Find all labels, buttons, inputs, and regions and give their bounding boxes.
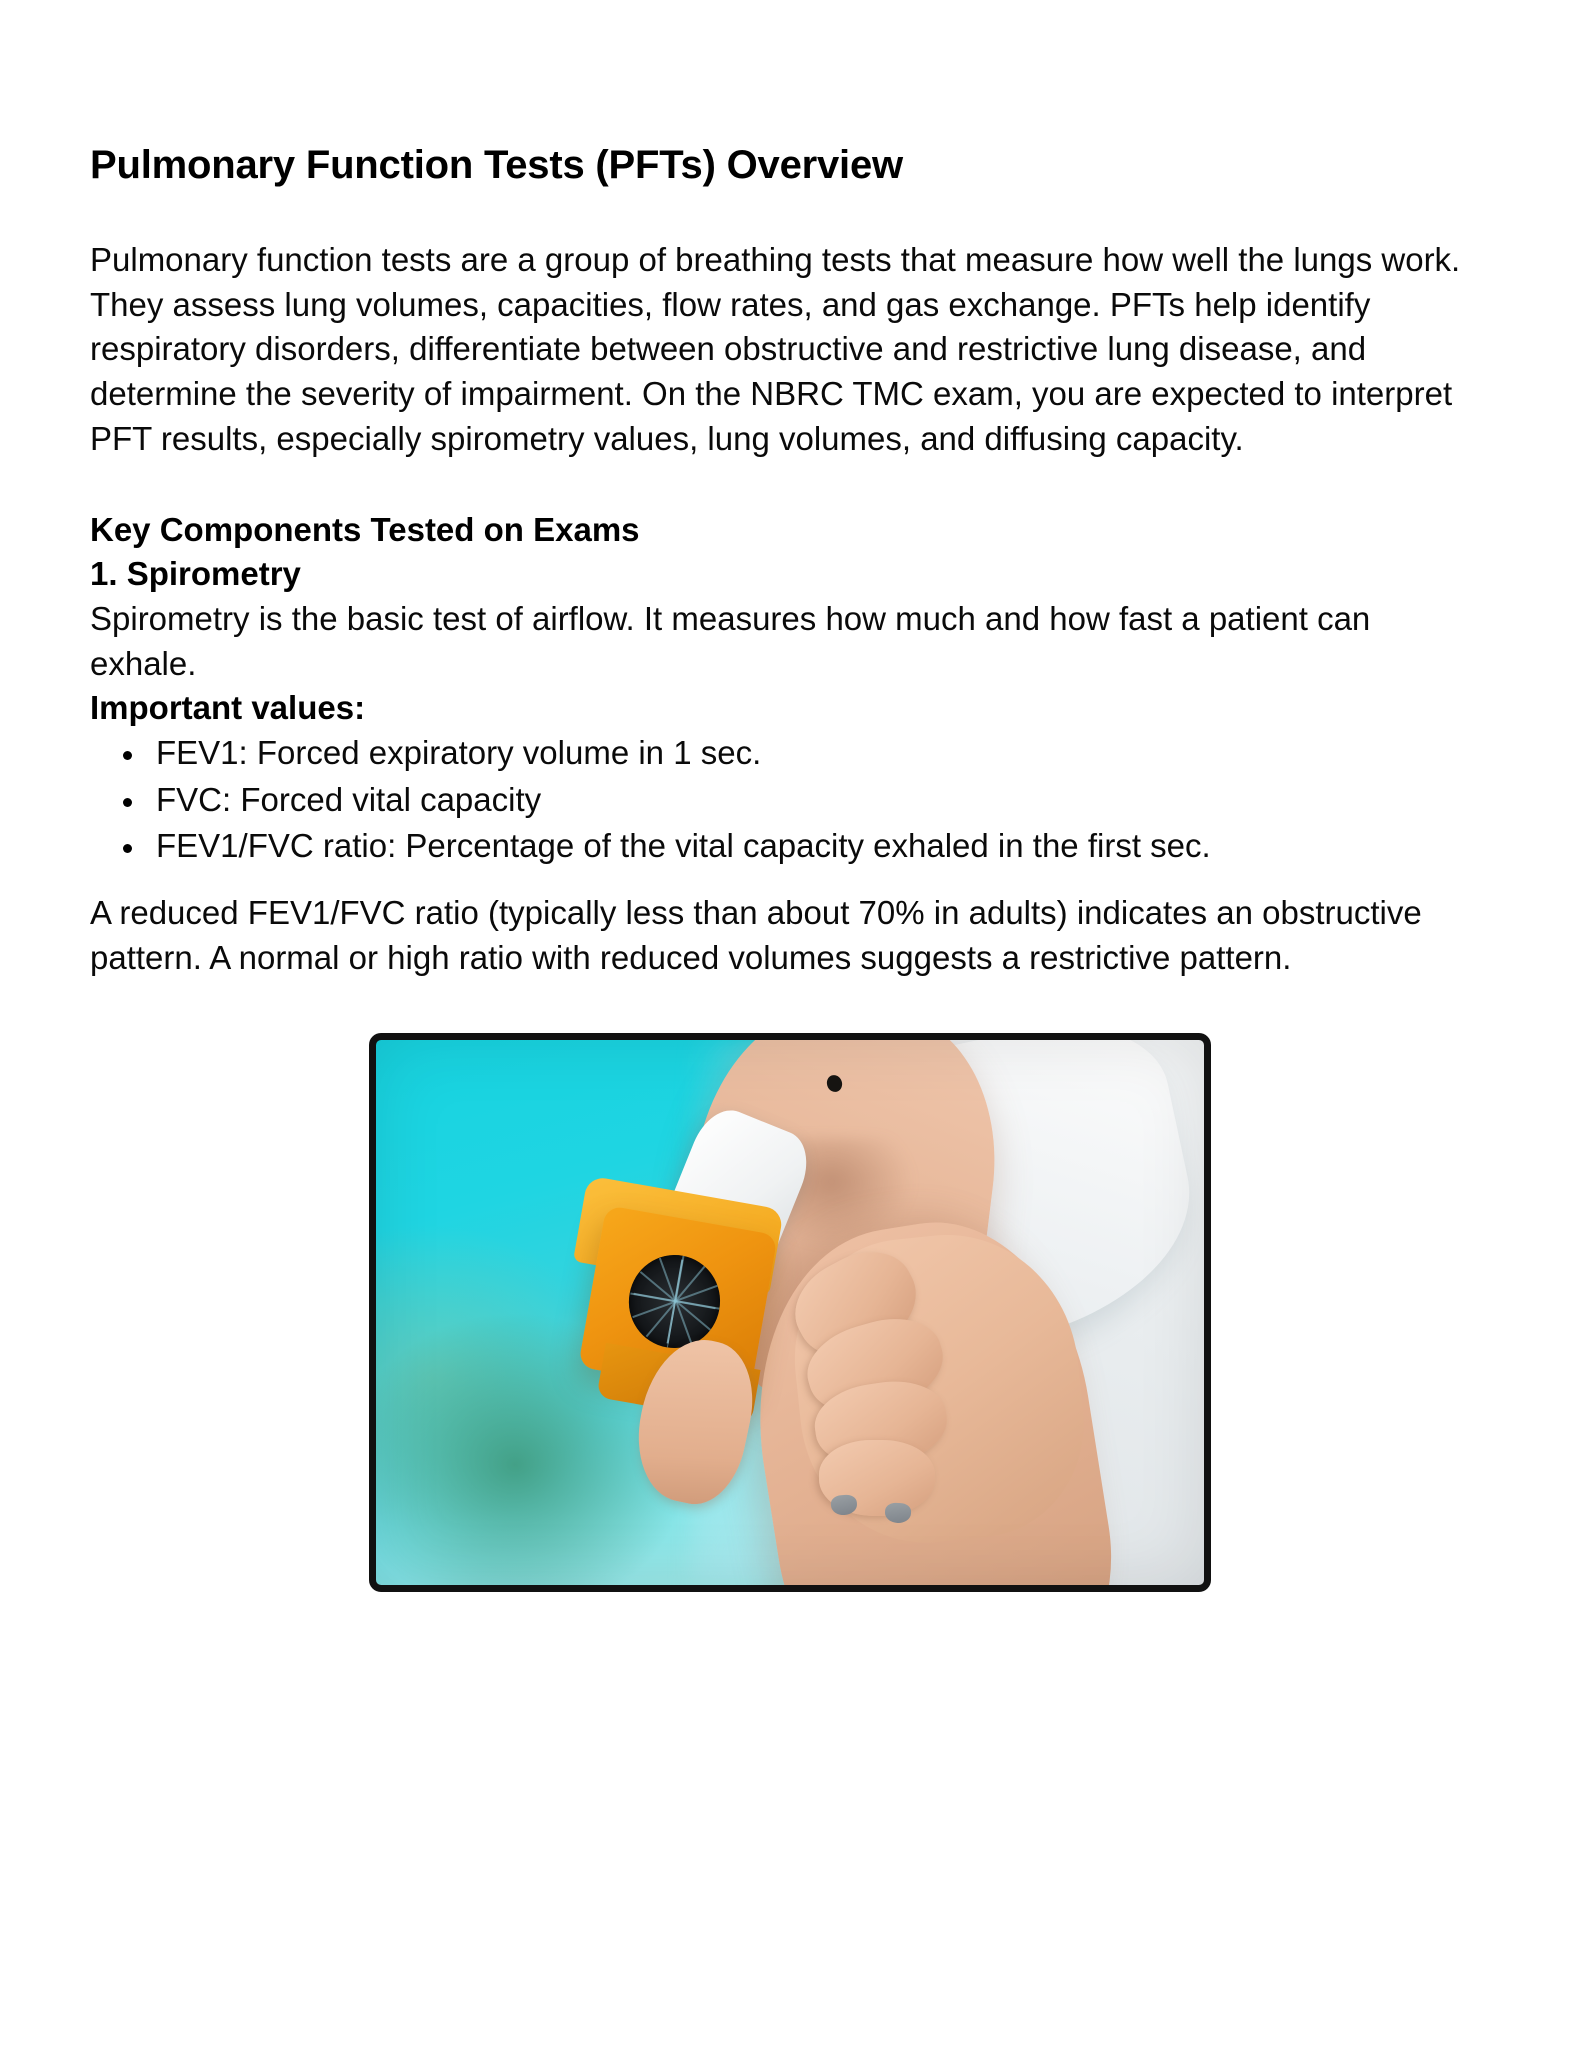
list-item-label: FVC: Forced vital capacity <box>156 781 541 818</box>
interpretation-paragraph: A reduced FEV1/FVC ratio (typically less… <box>90 891 1485 980</box>
list-item-label: FEV1/FVC ratio: Percentage of the vital … <box>156 827 1211 864</box>
bullet-dot-icon <box>123 798 132 807</box>
document-page: Pulmonary Function Tests (PFTs) Overview… <box>0 0 1583 2048</box>
list-item: FEV1: Forced expiratory volume in 1 sec. <box>90 731 1490 776</box>
spirometer-photo <box>369 1033 1211 1592</box>
bullet-dot-icon <box>123 844 132 853</box>
intro-paragraph: Pulmonary function tests are a group of … <box>90 238 1485 462</box>
spirometry-paragraph: Spirometry is the basic test of airflow.… <box>90 597 1485 686</box>
document-content: Pulmonary Function Tests (PFTs) Overview… <box>90 140 1490 1592</box>
spacer <box>90 871 1490 891</box>
list-item: FEV1/FVC ratio: Percentage of the vital … <box>90 824 1490 869</box>
bullet-dot-icon <box>123 751 132 760</box>
subsection-heading-spirometry: 1. Spirometry <box>90 552 1490 597</box>
important-values-heading: Important values: <box>90 686 1490 731</box>
list-item-label: FEV1: Forced expiratory volume in 1 sec. <box>156 734 761 771</box>
page-title: Pulmonary Function Tests (PFTs) Overview <box>90 140 1490 190</box>
important-values-list: FEV1: Forced expiratory volume in 1 sec.… <box>90 731 1490 869</box>
figure-container <box>90 1033 1490 1592</box>
section-heading-key-components: Key Components Tested on Exams <box>90 508 1490 553</box>
list-item: FVC: Forced vital capacity <box>90 778 1490 823</box>
photo-canvas <box>376 1040 1204 1585</box>
